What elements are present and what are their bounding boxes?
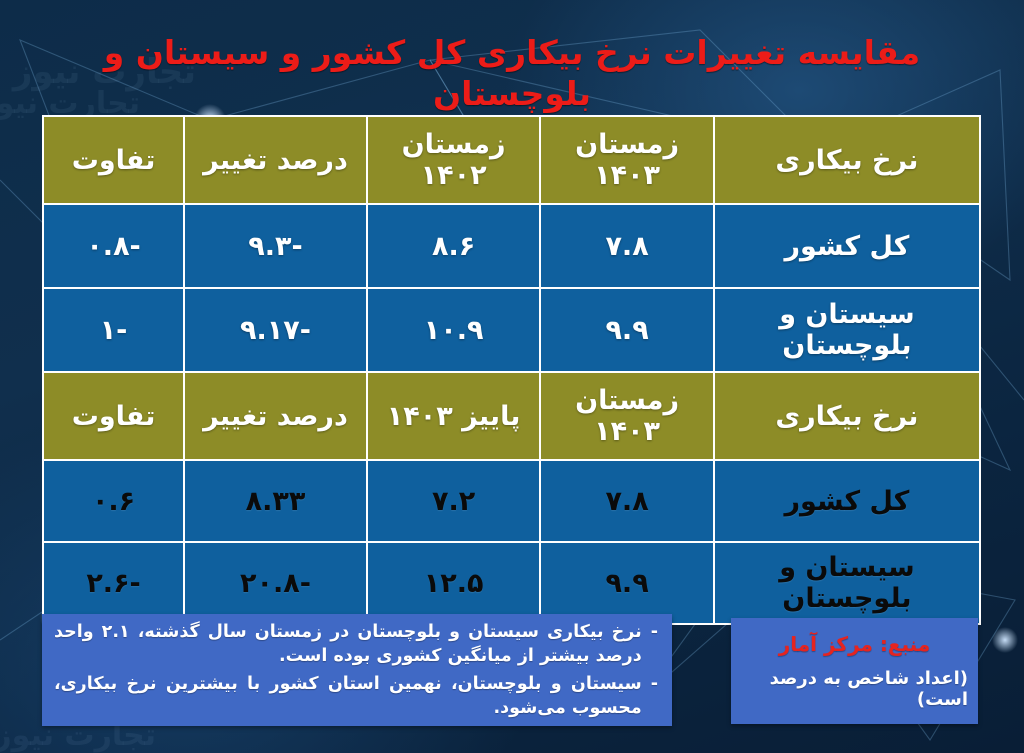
cell-percent-change: -۲۰.۸ bbox=[184, 542, 367, 624]
cell-difference: -۱ bbox=[43, 288, 184, 372]
header-cell-period1: زمستان ۱۴۰۳ bbox=[540, 372, 713, 460]
cell-value-period1: ۹.۹ bbox=[540, 288, 713, 372]
header-cell-difference: تفاوت bbox=[43, 372, 184, 460]
list-item: - نرخ بیکاری سیستان و بلوچستان در زمستان… bbox=[54, 620, 658, 668]
cell-value-period2: ۱۰.۹ bbox=[367, 288, 540, 372]
bullet-text: نرخ بیکاری سیستان و بلوچستان در زمستان س… bbox=[54, 620, 642, 668]
header-cell-period2: پاییز ۱۴۰۳ bbox=[367, 372, 540, 460]
cell-percent-change: ۸.۳۳ bbox=[184, 460, 367, 542]
bullet-marker-icon: - bbox=[651, 620, 658, 644]
cell-value-period2: ۱۲.۵ bbox=[367, 542, 540, 624]
list-item: - سیستان و بلوچستان، نهمین استان کشور با… bbox=[54, 672, 658, 720]
comparison-table-wrapper: نرخ بیکاری زمستان ۱۴۰۳ زمستان ۱۴۰۲ درصد … bbox=[42, 115, 981, 625]
table-row: کل کشور ۷.۸ ۸.۶ -۹.۳ -۰.۸ bbox=[43, 204, 980, 288]
cell-percent-change: -۹.۳ bbox=[184, 204, 367, 288]
table-row: سیستان و بلوچستان ۹.۹ ۱۲.۵ -۲۰.۸ -۲.۶ bbox=[43, 542, 980, 624]
bullet-marker-icon: - bbox=[651, 672, 658, 696]
unit-label: (اعداد شاخص به درصد است) bbox=[741, 668, 968, 710]
cell-region: سیستان و بلوچستان bbox=[714, 288, 980, 372]
header-cell-percent-change: درصد تغییر bbox=[184, 116, 367, 204]
table-row: سیستان و بلوچستان ۹.۹ ۱۰.۹ -۹.۱۷ -۱ bbox=[43, 288, 980, 372]
cell-region: کل کشور bbox=[714, 204, 980, 288]
cell-value-period1: ۷.۸ bbox=[540, 204, 713, 288]
source-label: منبع: مرکز آمار bbox=[779, 632, 930, 656]
bullet-text: سیستان و بلوچستان، نهمین استان کشور با ب… bbox=[54, 672, 642, 720]
cell-region: کل کشور bbox=[714, 460, 980, 542]
page-title: مقایسه تغییرات نرخ بیکاری کل کشور و سیست… bbox=[0, 32, 1024, 115]
table-row: کل کشور ۷.۸ ۷.۲ ۸.۳۳ ۰.۶ bbox=[43, 460, 980, 542]
unemployment-comparison-table: نرخ بیکاری زمستان ۱۴۰۳ زمستان ۱۴۰۲ درصد … bbox=[42, 115, 981, 625]
header-cell-period1: زمستان ۱۴۰۳ bbox=[540, 116, 713, 204]
header-cell-difference: تفاوت bbox=[43, 116, 184, 204]
cell-value-period1: ۷.۸ bbox=[540, 460, 713, 542]
header-cell-period2: زمستان ۱۴۰۲ bbox=[367, 116, 540, 204]
source-note-box: منبع: مرکز آمار (اعداد شاخص به درصد است) bbox=[731, 618, 978, 724]
cell-value-period2: ۸.۶ bbox=[367, 204, 540, 288]
header-cell-percent-change: درصد تغییر bbox=[184, 372, 367, 460]
key-findings-box: - نرخ بیکاری سیستان و بلوچستان در زمستان… bbox=[42, 614, 672, 726]
infographic-canvas: تجارت نیوز تجارت نیوز تجارت نیوز تجارت ن… bbox=[0, 0, 1024, 753]
cell-region: سیستان و بلوچستان bbox=[714, 542, 980, 624]
cell-difference: -۲.۶ bbox=[43, 542, 184, 624]
table-header-row: نرخ بیکاری زمستان ۱۴۰۳ زمستان ۱۴۰۲ درصد … bbox=[43, 116, 980, 204]
cell-percent-change: -۹.۱۷ bbox=[184, 288, 367, 372]
cell-value-period1: ۹.۹ bbox=[540, 542, 713, 624]
cell-difference: -۰.۸ bbox=[43, 204, 184, 288]
cell-value-period2: ۷.۲ bbox=[367, 460, 540, 542]
table-header-row: نرخ بیکاری زمستان ۱۴۰۳ پاییز ۱۴۰۳ درصد ت… bbox=[43, 372, 980, 460]
header-cell-metric: نرخ بیکاری bbox=[714, 116, 980, 204]
cell-difference: ۰.۶ bbox=[43, 460, 184, 542]
header-cell-metric: نرخ بیکاری bbox=[714, 372, 980, 460]
